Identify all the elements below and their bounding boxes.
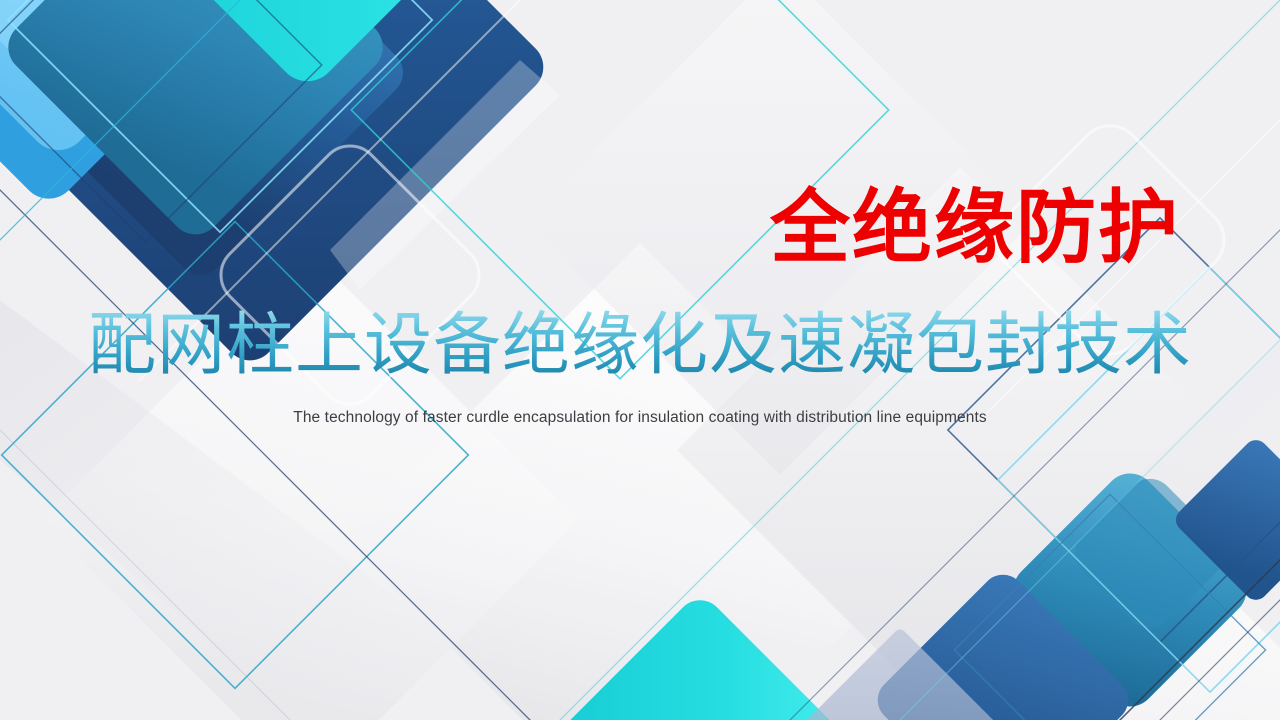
headline-red: 全绝缘防护	[0, 186, 1180, 269]
subtitle-english: The technology of faster curdle encapsul…	[0, 409, 1280, 427]
title-text-block: 全绝缘防护 配网柱上设备绝缘化及速凝包封技术 The technology of…	[0, 0, 1280, 720]
presentation-slide: 全绝缘防护 配网柱上设备绝缘化及速凝包封技术 The technology of…	[0, 0, 1280, 720]
main-title: 配网柱上设备绝缘化及速凝包封技术	[0, 310, 1280, 382]
